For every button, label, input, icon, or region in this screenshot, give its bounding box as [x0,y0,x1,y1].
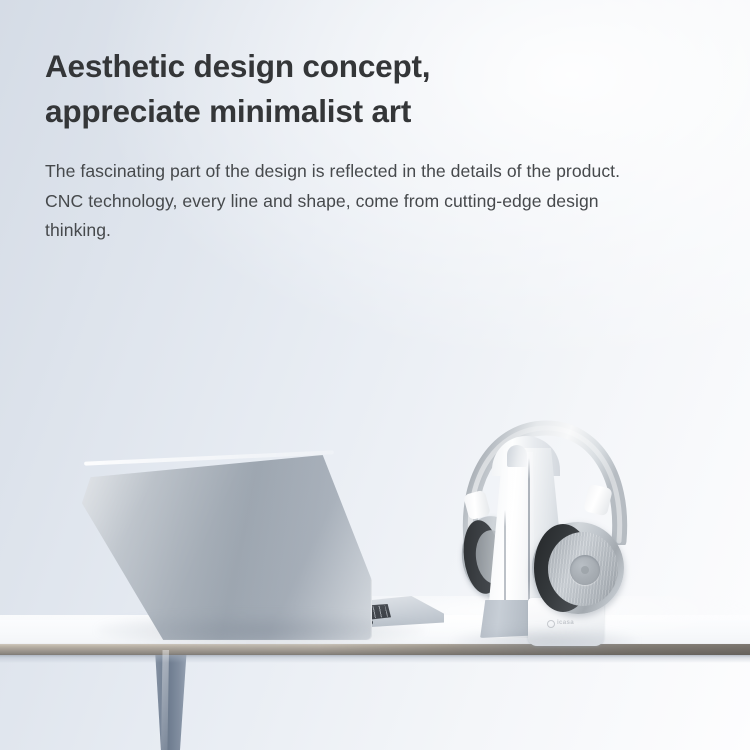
product-marketing-banner: icasa Aesthetic design concept, apprecia… [0,0,750,750]
marketing-copy: Aesthetic design concept, appreciate min… [45,44,685,245]
stand-top-notch [507,445,527,467]
body-paragraph: The fascinating part of the design is re… [45,133,653,245]
page-title: Aesthetic design concept, appreciate min… [45,44,685,133]
circle-logo-icon [547,620,555,628]
stand-shadow [452,628,638,654]
headphone-earcup-right-center-dot [581,566,589,574]
brand-logo-text: icasa [557,620,574,626]
